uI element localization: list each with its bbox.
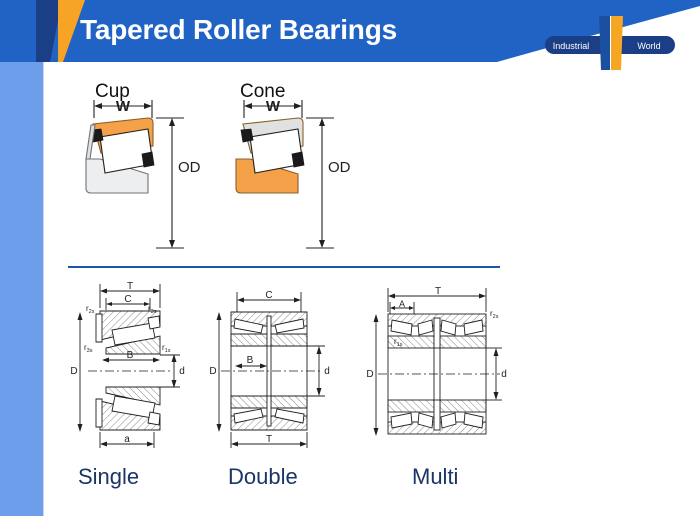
double-cone-lower-right [271,396,307,408]
single-label-t: T [127,281,133,292]
cone-label-w: W [266,98,281,115]
sidebar-divider [43,62,44,516]
page-title: Tapered Roller Bearings [80,14,397,46]
multi-cone-lower-2 [440,400,486,412]
cup-w-arrow-right [144,103,152,109]
cone-w-arrow-right [294,103,302,109]
multi-label-d: d [501,369,507,380]
single-label-d: d [179,366,185,377]
figure-cup: W OD [60,96,210,256]
cone-cage-block-right [292,152,304,167]
double-cone-upper-left [231,334,267,346]
header-navy-sliver [0,0,56,62]
double-label-B: B [247,355,254,366]
multi-spacer-lower [434,400,440,430]
multi-cone-upper-2 [440,336,486,348]
single-label-r1s-right: r1s [162,343,171,354]
header-navy-sliver-2 [36,0,62,62]
logo-cross-split [610,16,611,70]
cone-cage-block-left [241,129,253,142]
single-label-a: a [124,434,130,445]
figure-cone: W OD [210,96,360,256]
cup-od-arrow-top [169,118,175,126]
figure-double: C [205,278,355,458]
cup-label-w: W [116,98,131,115]
cup-od-arrow-bot [169,240,175,248]
double-label-D: D [209,366,216,377]
multi-spacer-upper [434,318,440,348]
single-cage-lower [148,412,160,425]
cone-od-arrow-top [319,118,325,126]
cup-cage-block-right [142,152,154,167]
section-divider [68,266,500,268]
double-spacer-lower [267,396,271,426]
figure-multi: T A [360,278,520,458]
multi-label-r2s: r2s [490,309,499,320]
single-label-r3s-left: r3s [84,343,93,354]
double-label-d: d [324,366,330,377]
double-spacer-upper [267,316,271,346]
logo-left-label: Industrial [553,41,590,51]
sidebar-strip [0,62,43,516]
logo-right-label: World [637,41,660,51]
cup-label-od: OD [178,159,201,176]
double-label-c: C [265,290,272,301]
single-rim-upper [96,314,102,342]
logo-cross-left [599,16,610,70]
figure-caption-multi: Multi [412,464,458,490]
multi-label-D: D [366,369,373,380]
header-navy-wedge [34,0,70,62]
single-cage-upper [148,316,160,329]
single-label-r2s: r2s [86,304,95,315]
double-label-T: T [266,434,272,445]
cone-label-od: OD [328,159,351,176]
multi-label-T: T [435,286,441,297]
single-label-D: D [70,366,77,377]
single-label-B: B [127,350,134,361]
multi-label-A: A [399,299,405,309]
figure-single: T C [62,278,212,458]
logo-cross-right [611,16,623,70]
single-rim-lower [96,399,102,427]
double-cone-upper-right [271,334,307,346]
figure-caption-double: Double [228,464,298,490]
cone-od-arrow-bot [319,240,325,248]
single-label-c: C [124,294,131,305]
slide: Tapered Roller Bearings Industrial World… [0,0,700,516]
cone-w-arrow-left [244,103,252,109]
multi-cone-lower-1 [388,400,434,412]
cup-w-arrow-left [94,103,102,109]
figure-caption-single: Single [78,464,139,490]
logo: Industrial World [545,12,675,74]
double-cone-lower-left [231,396,267,408]
